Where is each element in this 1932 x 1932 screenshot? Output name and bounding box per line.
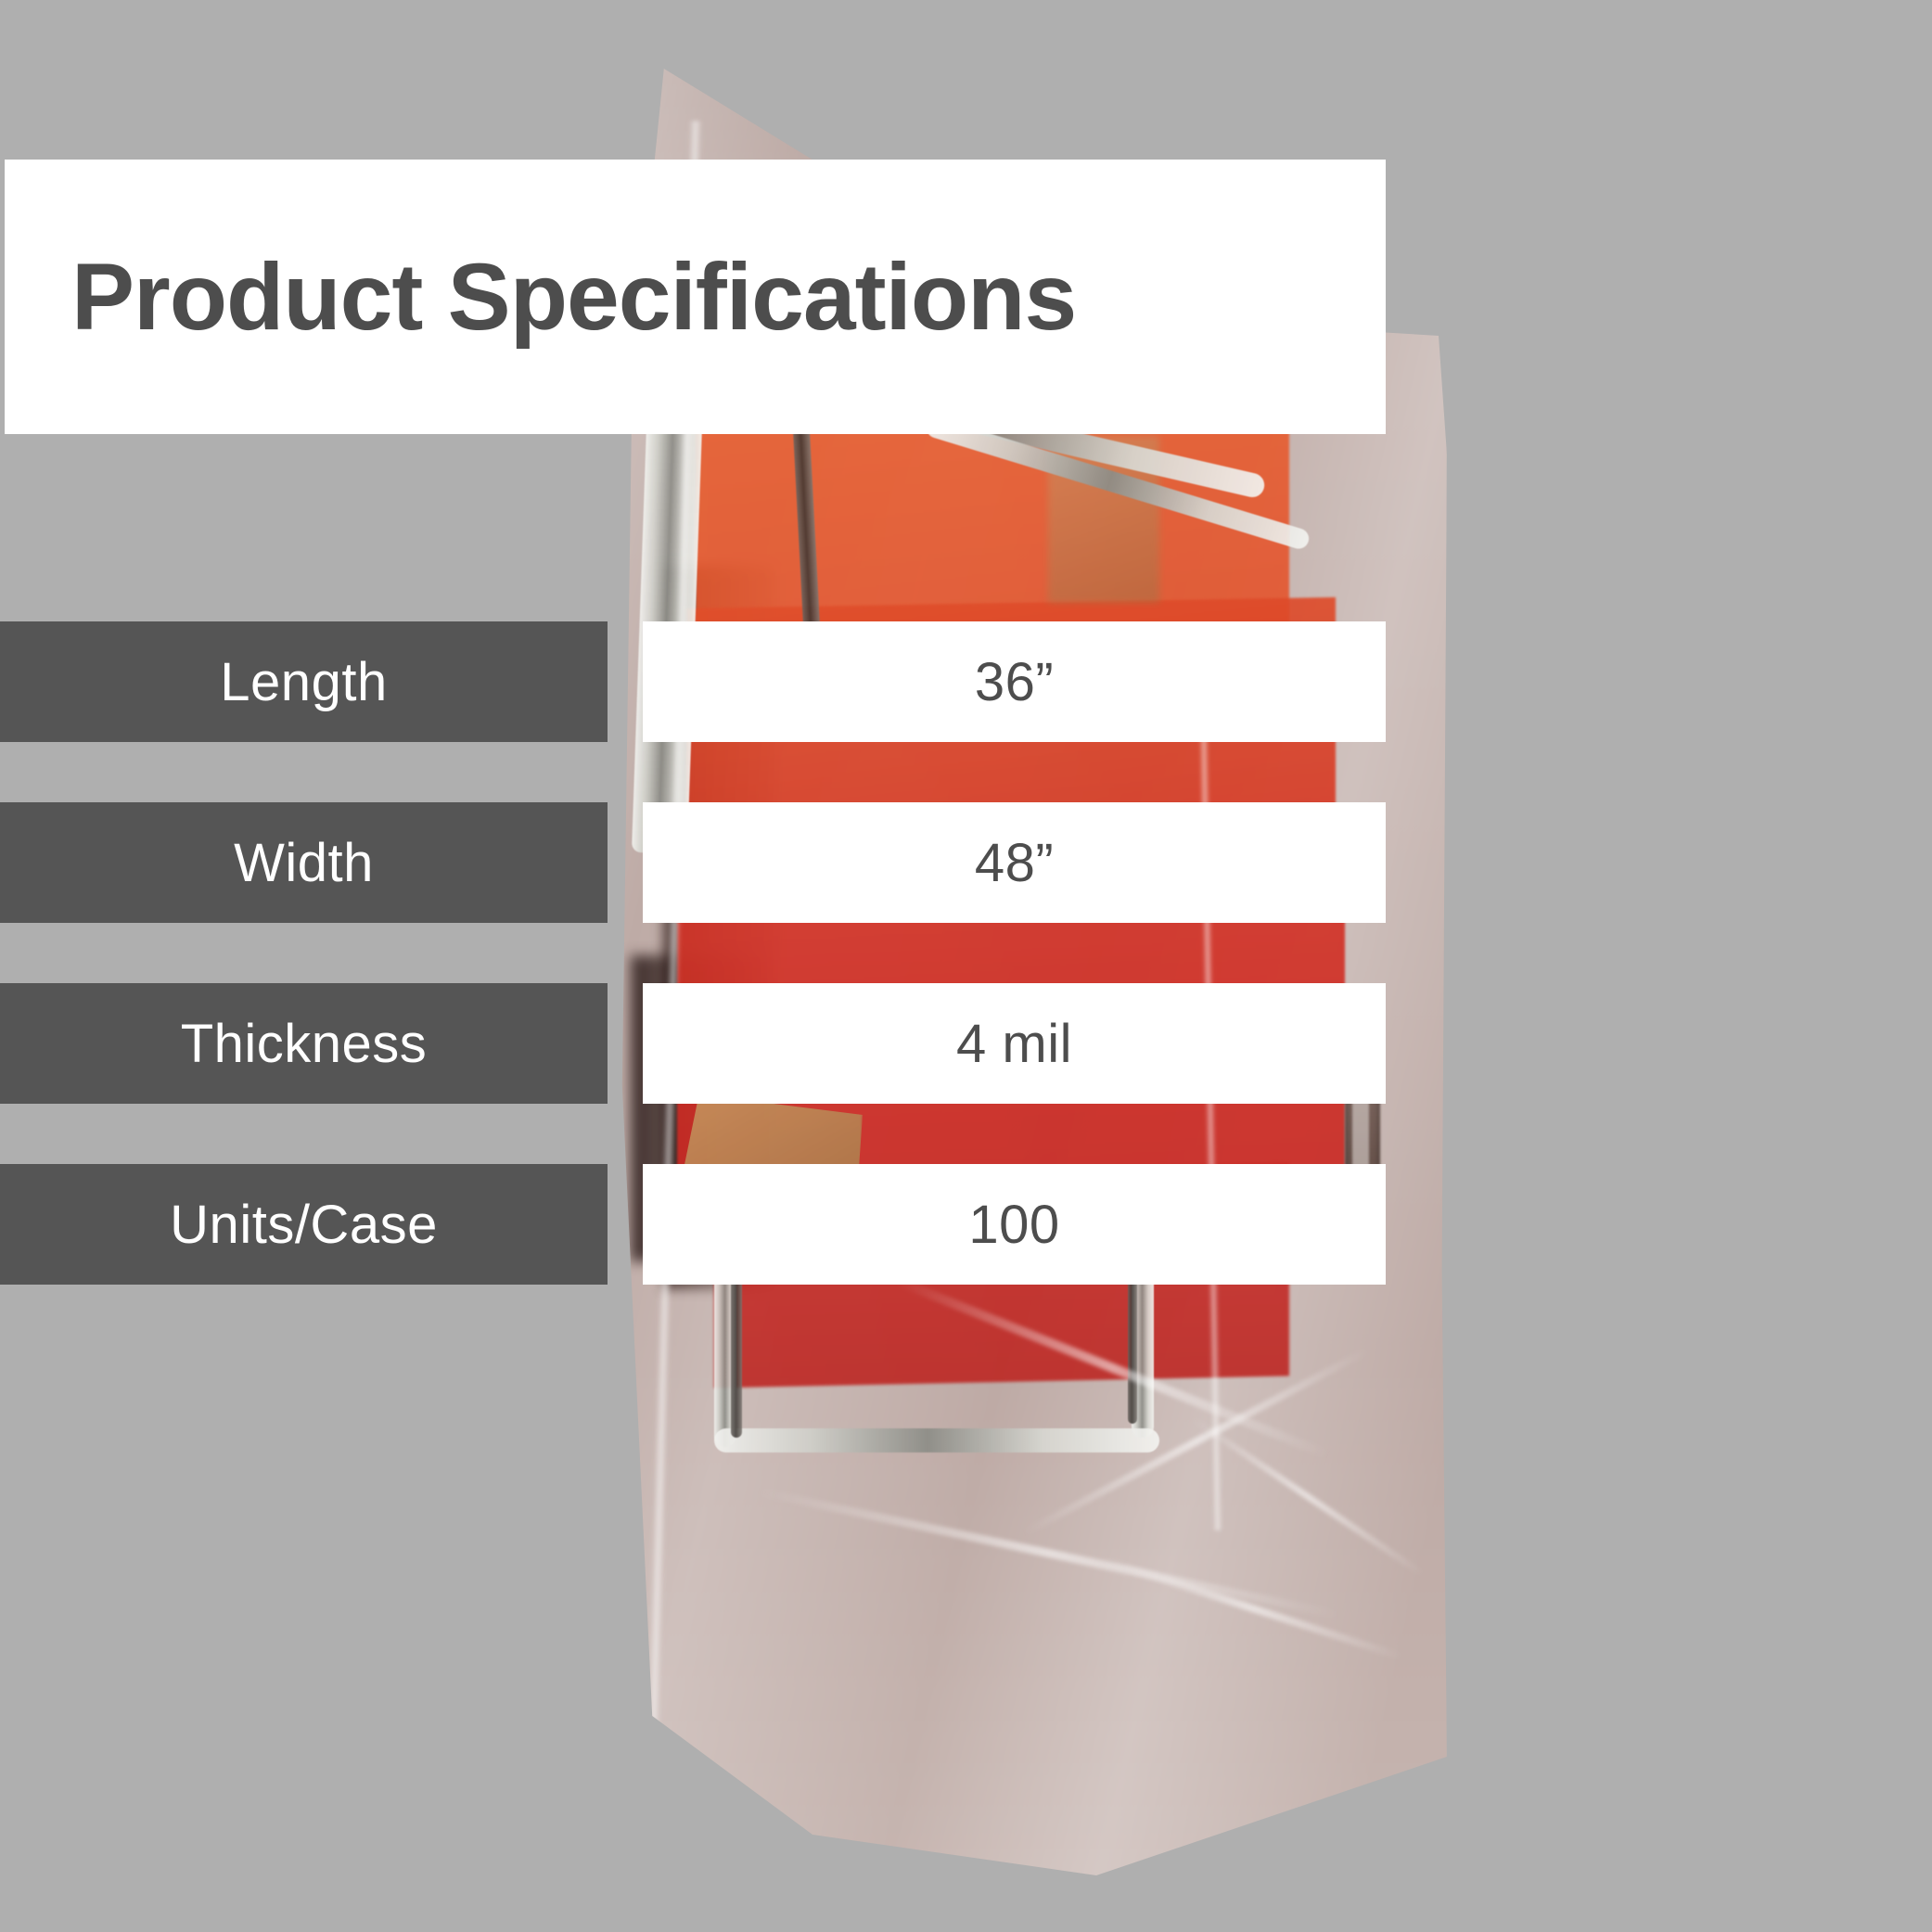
bag-crease-5 [757, 1488, 1339, 1619]
spec-value-width: 48” [643, 802, 1386, 923]
spec-value-length: 36” [643, 621, 1386, 742]
spec-label-units-per-case: Units/Case [0, 1164, 608, 1285]
spec-label-thickness: Thickness [0, 983, 608, 1104]
page-title: Product Specifications [71, 249, 1076, 344]
bag-crease-7 [1191, 1416, 1426, 1578]
bag-crease-8 [1101, 1556, 1403, 1661]
spec-label-length: Length [0, 621, 608, 742]
chrome-leg-crossbar [714, 1428, 1159, 1452]
infographic-canvas: Product Specifications Length 36” Width … [0, 0, 1932, 1932]
title-bar: Product Specifications [5, 160, 1386, 434]
spec-value-units-per-case: 100 [643, 1164, 1386, 1285]
spec-label-width: Width [0, 802, 608, 923]
spec-value-thickness: 4 mil [643, 983, 1386, 1104]
